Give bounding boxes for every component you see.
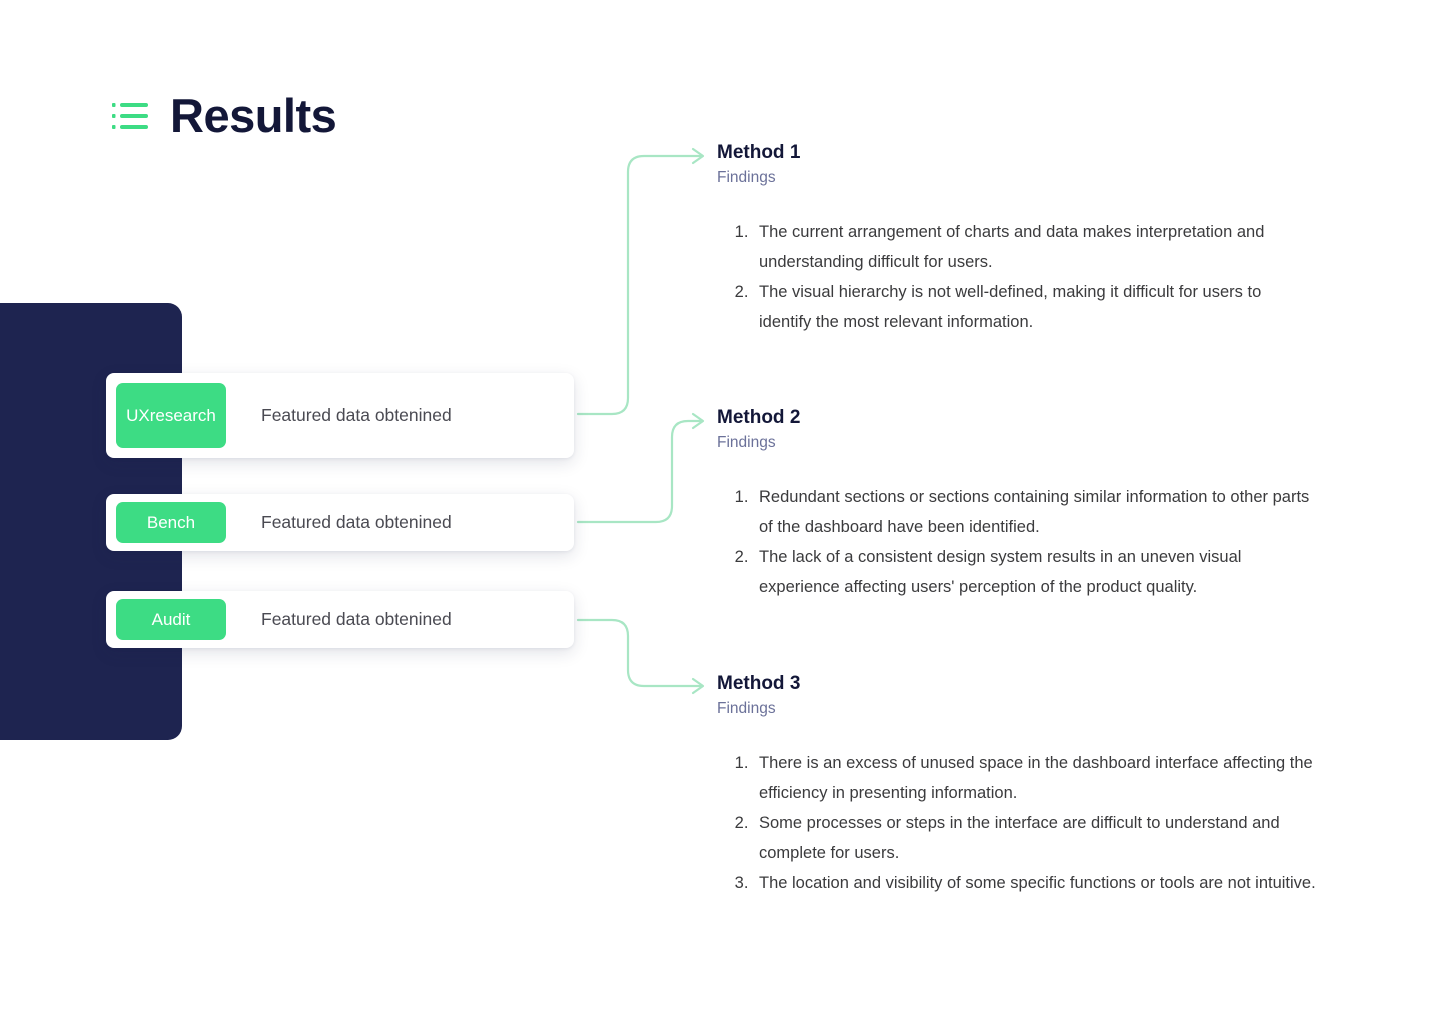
method-subtitle: Findings [717, 434, 1317, 453]
finding-item: The location and visibility of some spec… [753, 868, 1317, 898]
finding-item: Redundant sections or sections containin… [753, 482, 1317, 542]
findings-list: There is an excess of unused space in th… [717, 748, 1317, 898]
arrow-right-icon-3 [693, 679, 703, 693]
method-title: Method 2 [717, 407, 1317, 430]
arrow-right-icon-1 [693, 149, 703, 163]
method-block-1: Method 1 Findings The current arrangemen… [717, 142, 1317, 337]
findings-list: Redundant sections or sections containin… [717, 482, 1317, 602]
method-title: Method 1 [717, 142, 1317, 165]
list-icon [112, 100, 148, 132]
connector-card3-method3 [578, 620, 700, 686]
method-title: Method 3 [717, 673, 1317, 696]
badge-line-1: UX [126, 405, 150, 427]
finding-item: There is an excess of unused space in th… [753, 748, 1317, 808]
arrow-right-icon-2 [693, 414, 703, 428]
card-label: Featured data obtenined [261, 405, 452, 426]
card-label: Featured data obtenined [261, 609, 452, 630]
badge-bench: Bench [116, 502, 226, 543]
badge-audit: Audit [116, 599, 226, 640]
findings-list: The current arrangement of charts and da… [717, 217, 1317, 337]
card-bench[interactable]: Bench Featured data obtenined [106, 494, 574, 551]
finding-item: The visual hierarchy is not well-defined… [753, 277, 1317, 337]
method-subtitle: Findings [717, 169, 1317, 188]
finding-item: The current arrangement of charts and da… [753, 217, 1317, 277]
connector-card2-method2 [578, 421, 700, 522]
connector-card1-method1 [578, 156, 700, 414]
badge-ux-research: UX research [116, 383, 226, 448]
method-block-3: Method 3 Findings There is an excess of … [717, 673, 1317, 898]
badge-line-2: research [150, 405, 216, 427]
card-ux-research[interactable]: UX research Featured data obtenined [106, 373, 574, 458]
finding-item: Some processes or steps in the interface… [753, 808, 1317, 868]
method-subtitle: Findings [717, 700, 1317, 719]
page-header: Results [112, 92, 336, 139]
finding-item: The lack of a consistent design system r… [753, 542, 1317, 602]
results-slide: Results UX research Featured data obteni… [0, 0, 1440, 1024]
page-title: Results [170, 92, 336, 139]
method-block-2: Method 2 Findings Redundant sections or … [717, 407, 1317, 602]
card-label: Featured data obtenined [261, 512, 452, 533]
card-audit[interactable]: Audit Featured data obtenined [106, 591, 574, 648]
